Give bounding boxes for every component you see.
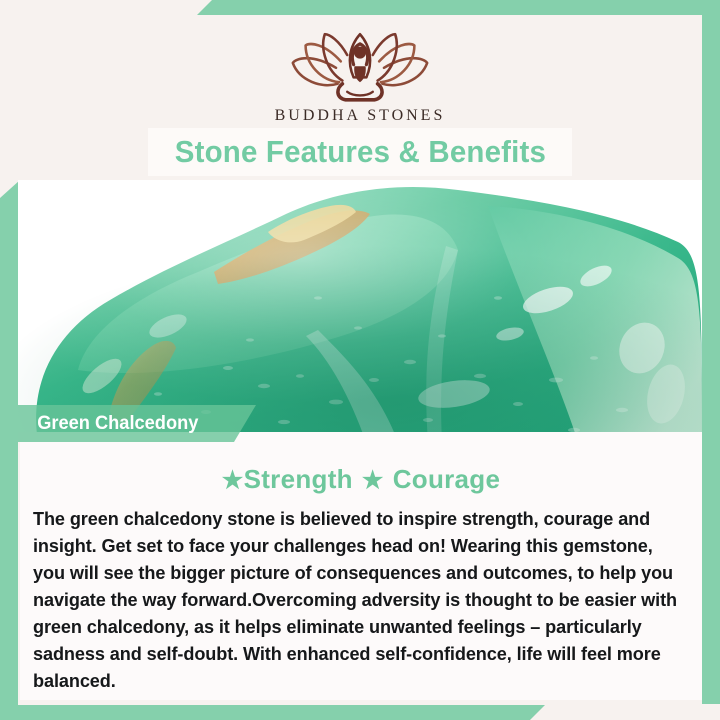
title-strip: Stone Features & Benefits [148,128,572,176]
star-icon-1: ★ [222,467,244,494]
stone-name-band: Green Chalcedony [18,405,256,442]
green-chalcedony-raw-stone-photo [18,180,702,442]
stone-name-label: Green Chalcedony [18,413,198,435]
decorative-band-left [0,180,20,720]
decorative-band-right [702,0,720,704]
keywords-row: ★Strength★Courage [20,464,702,495]
star-icon-2: ★ [362,467,384,494]
description-paragraph: The green chalcedony stone is believed t… [33,505,680,694]
content-panel: ★Strength★Courage The green chalcedony s… [20,442,702,700]
keyword-strength: Strength [244,464,353,494]
keyword-courage: Courage [393,464,501,494]
infographic-page: BUDDHA STONES Stone Features & Benefits [0,0,720,720]
brand-name: BUDDHA STONES [275,107,446,125]
lotus-meditation-figure-icon [280,31,440,103]
page-title: Stone Features & Benefits [174,134,545,170]
